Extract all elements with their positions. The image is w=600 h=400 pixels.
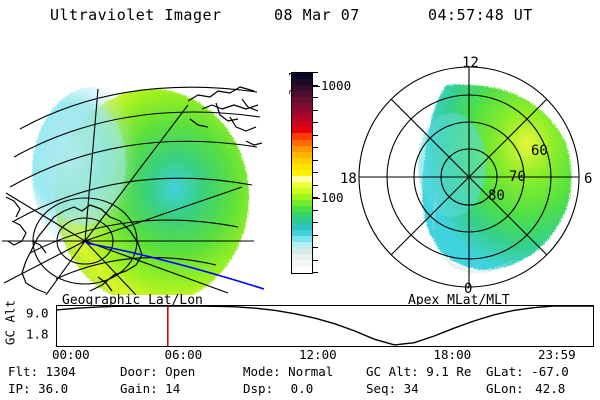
mlt-label-18: 18 xyxy=(340,171,357,187)
status-gcalt: GC Alt: 9.1 Re xyxy=(366,364,471,379)
status-dsp-value: 0.0 xyxy=(281,381,314,396)
geographic-projection-plot xyxy=(2,45,264,295)
status-mode-label: Mode: xyxy=(243,364,281,379)
status-gain-value: 14 xyxy=(165,381,180,396)
status-glat: GLat: -67.0 xyxy=(486,364,569,379)
colorbar-tick xyxy=(313,147,318,148)
altitude-track-plot xyxy=(56,305,594,347)
status-seq-label: Seq: xyxy=(366,381,396,396)
status-door: Door: Open xyxy=(120,364,195,379)
mlat-label-60: 60 xyxy=(531,143,548,159)
header-bar: Ultraviolet Imager 08 Mar 07 04:57:48 UT xyxy=(0,6,600,30)
colorbar-tick xyxy=(313,135,318,136)
mlt-label-12: 12 xyxy=(462,55,479,71)
status-glat-value: -67.0 xyxy=(531,364,569,379)
status-flight-label: Flt: xyxy=(8,364,38,379)
colorbar-tick xyxy=(313,185,318,186)
status-flight: Flt: 1304 xyxy=(8,364,76,379)
status-ip-value: 36.0 xyxy=(38,381,68,396)
colorbar-tick xyxy=(313,272,318,273)
status-gcalt-label: GC Alt: xyxy=(366,364,419,379)
colorbar-band xyxy=(292,267,312,273)
colorbar-major-tick xyxy=(313,198,320,199)
status-seq: Seq: 34 xyxy=(366,381,419,396)
colorbar-tick xyxy=(313,247,318,248)
mlat-label-70: 70 xyxy=(509,169,526,185)
altitude-timeline-panel[interactable]: GC Alt 9.0 1.8 00:0006:0012:0018:0023:59 xyxy=(0,303,600,355)
mlat-label-80: 80 xyxy=(488,188,505,204)
status-mode-value: Normal xyxy=(288,364,333,379)
status-mode: Mode: Normal xyxy=(243,364,333,379)
colorbar-tick xyxy=(313,172,318,173)
colorbar-ticks: 1000100 xyxy=(313,72,341,274)
colorbar-major-tick xyxy=(313,86,320,87)
colorbar-tick xyxy=(313,122,318,123)
status-glon: GLon: 42.8 xyxy=(486,381,565,396)
status-gcalt-value: 9.1 Re xyxy=(426,364,471,379)
apex-polar-plot: 12 18 6 0 60 70 80 xyxy=(338,45,600,295)
status-dsp-label: Dsp: xyxy=(243,381,273,396)
colorbar-tick xyxy=(313,72,318,73)
colorbar: photon cm-2s-1 1000100 xyxy=(268,60,340,290)
altitude-ytick-low: 1.8 xyxy=(26,327,49,342)
colorbar-gradient xyxy=(291,72,313,274)
altitude-xtick-label: 23:59 xyxy=(538,347,576,362)
status-seq-value: 34 xyxy=(404,381,419,396)
observation-time: 04:57:48 UT xyxy=(428,6,533,24)
instrument-title: Ultraviolet Imager xyxy=(50,6,222,24)
colorbar-tick xyxy=(313,110,318,111)
altitude-ytick-high: 9.0 xyxy=(26,306,49,321)
status-door-label: Door: xyxy=(120,364,158,379)
status-glon-label: GLon: xyxy=(486,381,524,396)
mlt-label-6: 6 xyxy=(584,171,592,187)
altitude-axis-label: GC Alt xyxy=(3,300,18,346)
status-gain: Gain: 14 xyxy=(120,381,180,396)
altitude-xtick-label: 06:00 xyxy=(165,347,203,362)
colorbar-tick xyxy=(313,260,318,261)
uvi-display-window: Ultraviolet Imager 08 Mar 07 04:57:48 UT xyxy=(0,0,600,400)
colorbar-tick xyxy=(313,235,318,236)
status-glon-value: 42.8 xyxy=(531,381,565,396)
status-ip-label: IP: xyxy=(8,381,31,396)
altitude-xtick-label: 18:00 xyxy=(434,347,472,362)
status-readout: Flt: 1304 IP: 36.0 Door: Open Gain: 14 M… xyxy=(0,363,600,399)
status-flight-value: 1304 xyxy=(46,364,76,379)
status-dsp: Dsp: 0.0 xyxy=(243,381,313,396)
status-gain-label: Gain: xyxy=(120,381,158,396)
altitude-xtick-label: 00:00 xyxy=(52,347,90,362)
apex-polar-panel[interactable]: 12 18 6 0 60 70 80 xyxy=(338,45,600,295)
status-door-value: Open xyxy=(165,364,195,379)
geographic-image-panel[interactable] xyxy=(2,45,264,295)
colorbar-tick xyxy=(313,97,318,98)
colorbar-tick xyxy=(313,210,318,211)
altitude-xtick-label: 12:00 xyxy=(299,347,337,362)
status-glat-label: GLat: xyxy=(486,364,524,379)
status-ip: IP: 36.0 xyxy=(8,381,68,396)
observation-date: 08 Mar 07 xyxy=(274,6,360,24)
colorbar-tick xyxy=(313,160,318,161)
colorbar-tick xyxy=(313,222,318,223)
